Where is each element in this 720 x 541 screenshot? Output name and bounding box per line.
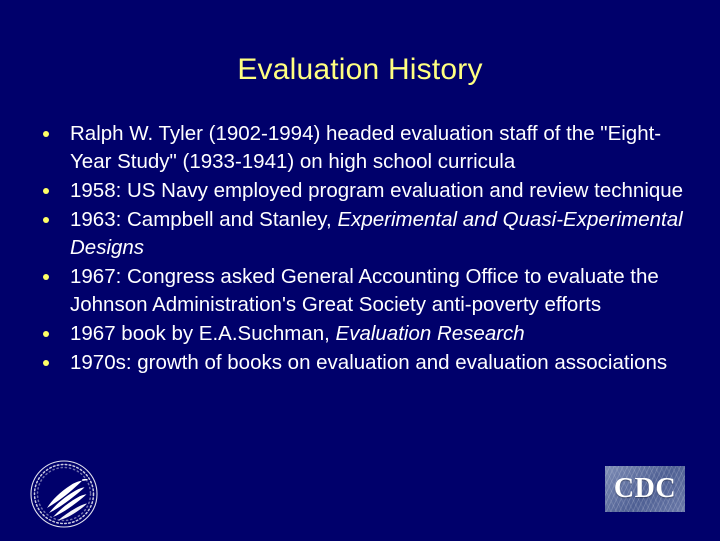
- list-item-text: Ralph W. Tyler (1902-1994) headed evalua…: [70, 120, 700, 176]
- cdc-wordmark: CDC: [605, 466, 685, 512]
- bullet-dot-icon: [43, 331, 49, 337]
- list-item-text: 1970s: growth of books on evaluation and…: [70, 349, 700, 377]
- bullet-dot-icon: [43, 360, 49, 366]
- list-item-italic: Evaluation Research: [336, 322, 525, 345]
- list-item: 1967: Congress asked General Accounting …: [36, 263, 700, 319]
- list-item-plain: 1958: US Navy employed program evaluatio…: [70, 179, 683, 202]
- list-item: Ralph W. Tyler (1902-1994) headed evalua…: [36, 120, 700, 176]
- list-item-text: 1963: Campbell and Stanley, Experimental…: [70, 206, 700, 262]
- presentation-slide: Evaluation History Ralph W. Tyler (1902-…: [0, 0, 720, 540]
- bullet-dot-icon: [43, 274, 49, 280]
- bullet-list: Ralph W. Tyler (1902-1994) headed evalua…: [36, 120, 700, 378]
- list-item-plain: 1970s: growth of books on evaluation and…: [70, 351, 667, 374]
- list-item-plain: 1967: Congress asked General Accounting …: [70, 265, 659, 316]
- list-item: 1958: US Navy employed program evaluatio…: [36, 177, 700, 205]
- list-item-plain: Ralph W. Tyler (1902-1994) headed evalua…: [70, 122, 661, 173]
- list-item-text: 1967: Congress asked General Accounting …: [70, 263, 700, 319]
- hhs-seal-icon: [22, 452, 106, 536]
- page-title: Evaluation History: [0, 52, 720, 88]
- list-item: 1963: Campbell and Stanley, Experimental…: [36, 206, 700, 262]
- list-item: 1967 book by E.A.Suchman, Evaluation Res…: [36, 320, 700, 348]
- cdc-logo: CDC: [605, 466, 685, 512]
- list-item-plain: 1963: Campbell and Stanley,: [70, 208, 337, 231]
- list-item-plain: 1967 book by E.A.Suchman,: [70, 322, 336, 345]
- list-item: 1970s: growth of books on evaluation and…: [36, 349, 700, 377]
- list-item-text: 1958: US Navy employed program evaluatio…: [70, 177, 700, 205]
- bullet-dot-icon: [43, 217, 49, 223]
- bullet-dot-icon: [43, 131, 49, 137]
- list-item-text: 1967 book by E.A.Suchman, Evaluation Res…: [70, 320, 700, 348]
- bullet-dot-icon: [43, 188, 49, 194]
